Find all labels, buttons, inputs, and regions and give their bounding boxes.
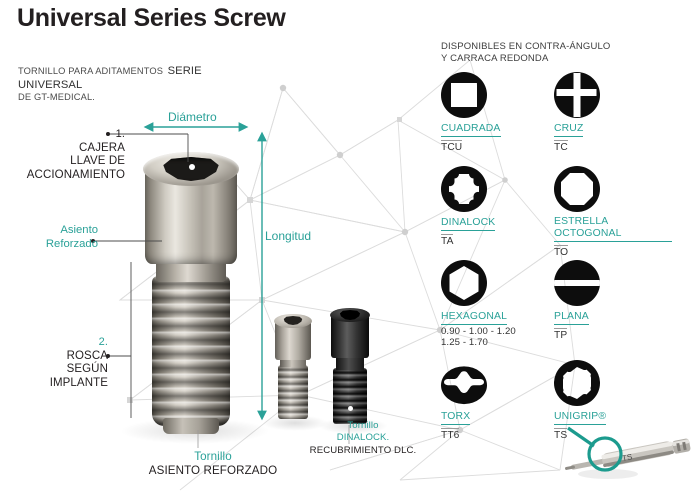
driver-label-cruz: CRUZ (554, 123, 583, 137)
callout-rosca: 2. ROSCA SEGÚN IMPLANTE (16, 336, 108, 390)
intro-line2: DE GT-MEDICAL. (18, 91, 268, 104)
caption-screw-dinalock: Tornillo DINALOCK. RECUBRIMIENTO DLC. (288, 420, 438, 457)
driver-label-torx: TORX (441, 411, 470, 425)
callout-cajera-line2: LLAVE DE (10, 155, 125, 169)
driver-option-torx[interactable]: TORX TT6 (441, 360, 559, 443)
driver-label-dinalock: DINALOCK (441, 217, 495, 231)
driver-tool-illustration: TS (556, 424, 700, 486)
callout-asiento-line1: Asiento (18, 224, 98, 238)
driver-option-cuadrada[interactable]: CUADRADA TCU (441, 72, 559, 155)
caption-dinalock-line2: DINALOCK. (288, 432, 438, 444)
driver-label-cuadrada: CUADRADA (441, 123, 501, 137)
callout-cajera: 1. CAJERA LLAVE DE ACCIONAMIENTO (10, 128, 125, 182)
driver-option-hexagonal[interactable]: HEXAGONAL 0.90 - 1.00 - 1.201.25 - 1.70 (441, 260, 559, 349)
availability-line1: DISPONIBLES EN CONTRA-ÁNGULO (441, 41, 610, 53)
callout-rosca-line1: ROSCA (16, 350, 108, 364)
callout-cajera-line3: ACCIONAMIENTO (10, 169, 125, 183)
driver-code-cuadrada: TCU (441, 140, 462, 154)
driver-label-unigrip: UNIGRIP® (554, 411, 606, 425)
unigrip-drive-icon (554, 360, 600, 406)
driver-code-plana: TP (554, 328, 567, 342)
callout-rosca-line2: SEGÚN (16, 363, 108, 377)
page-title: Universal Series Screw (17, 4, 286, 33)
callout-cajera-number: 1. (10, 128, 125, 142)
diameter-label: Diámetro (168, 111, 217, 125)
driver-code-estrella-octogonal: TO (554, 245, 568, 259)
driver-code-cruz: TC (554, 140, 568, 154)
driver-option-plana[interactable]: PLANA TP (554, 260, 672, 343)
caption-reinforced-line2: ASIENTO REFORZADO (118, 464, 308, 478)
intro-line1: TORNILLO PARA ADITAMENTOS (18, 66, 163, 76)
torx-drive-icon (441, 360, 487, 406)
driver-label-hexagonal: HEXAGONAL (441, 311, 507, 325)
caption-dinalock-line3: RECUBRIMIENTO DLC. (288, 445, 438, 457)
driver-tool-marking: TS (621, 452, 633, 463)
driver-option-cruz[interactable]: CRUZ TC (554, 72, 672, 155)
slot-drive-icon (554, 260, 600, 306)
callout-asiento-line2: Reforzado (18, 238, 98, 252)
driver-label-plana: PLANA (554, 311, 589, 325)
intro-text: TORNILLO PARA ADITAMENTOS SERIE UNIVERSA… (18, 64, 268, 104)
caption-dinalock-line1: Tornillo (288, 420, 438, 432)
poster-canvas: Universal Series Screw TORNILLO PARA ADI… (0, 0, 700, 500)
driver-sizes-hexagonal: 0.90 - 1.00 - 1.201.25 - 1.70 (441, 326, 559, 349)
callout-cajera-line1: CAJERA (10, 142, 125, 156)
driver-label-estrella-octogonal: ESTRELLA OCTOGONAL (554, 216, 672, 242)
callout-rosca-number: 2. (16, 336, 108, 350)
availability-note: DISPONIBLES EN CONTRA-ÁNGULO Y CARRACA R… (441, 41, 610, 65)
driver-option-dinalock[interactable]: DINALOCK TA (441, 166, 559, 249)
caption-reinforced-line1: Tornillo (118, 450, 308, 464)
driver-code-dinalock: TA (441, 234, 453, 248)
availability-line2: Y CARRACA REDONDA (441, 53, 610, 65)
callout-asiento: Asiento Reforzado (18, 224, 98, 251)
octagon-drive-icon (554, 166, 600, 212)
square-drive-icon (441, 72, 487, 118)
hexagon-drive-icon (441, 260, 487, 306)
dinalock-drive-icon (441, 166, 487, 212)
driver-option-estrella-octogonal[interactable]: ESTRELLA OCTOGONAL TO (554, 166, 672, 260)
length-label: Longitud (265, 230, 311, 244)
driver-code-torx: TT6 (441, 428, 459, 442)
caption-screw-reinforced: Tornillo ASIENTO REFORZADO (118, 450, 308, 477)
callout-rosca-line3: IMPLANTE (16, 377, 108, 391)
tool-highlight-leader (568, 428, 594, 446)
cross-drive-icon (554, 72, 600, 118)
